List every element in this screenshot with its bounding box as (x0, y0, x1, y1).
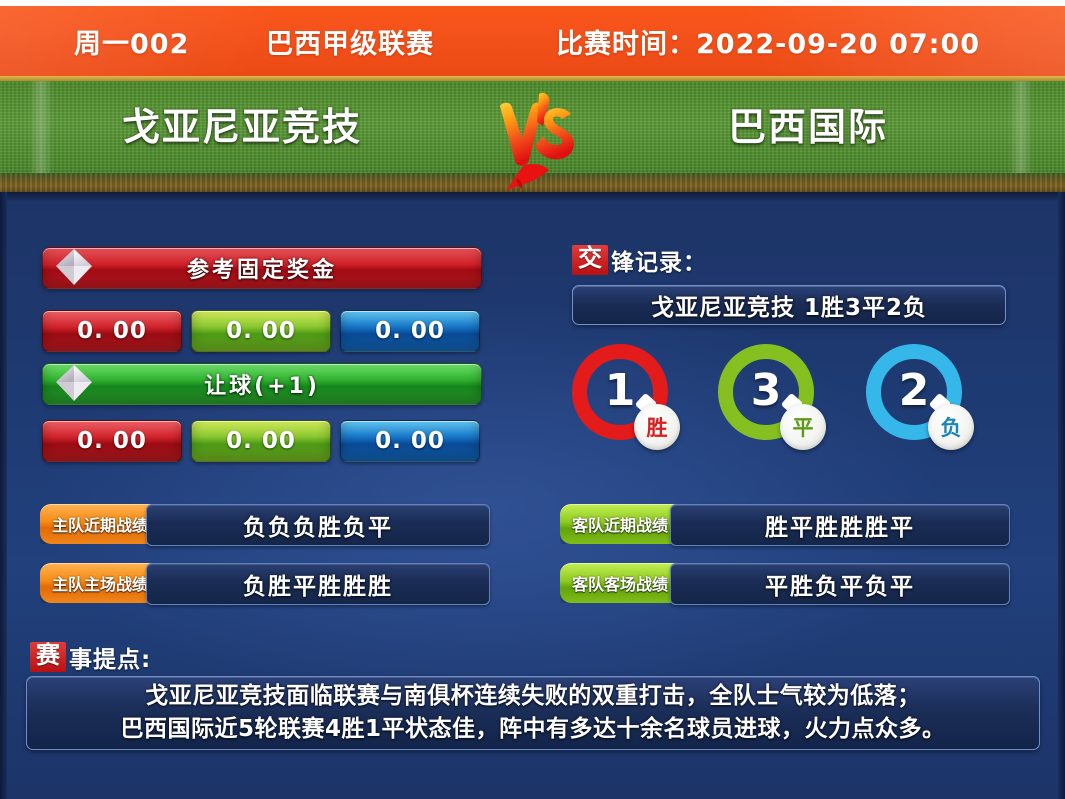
home-home-record-value: 负胜平胜胜胜 (243, 567, 393, 601)
handicap-odd-draw[interactable]: 0. 00 (191, 420, 331, 462)
tips-section-title: 赛 事提点: (30, 640, 151, 674)
fixed-prize-odds-row: 0. 00 0. 00 0. 00 (42, 310, 480, 352)
fixed-prize-odd-win[interactable]: 0. 00 (42, 310, 182, 352)
handicap-title: 让球(+1) (204, 368, 320, 400)
away-recent-record-bar: 胜平胜胜胜平 (670, 504, 1010, 546)
h2h-ring-lose-label: 负 (928, 404, 974, 450)
vs-flame-icon (487, 88, 583, 192)
h2h-summary-text: 戈亚尼亚竞技 1胜3平2负 (651, 288, 927, 322)
handicap-odd-lose[interactable]: 0. 00 (340, 420, 480, 462)
fixed-prize-odd-draw[interactable]: 0. 00 (191, 310, 331, 352)
handicap-odd-draw-value: 0. 00 (226, 428, 296, 454)
home-home-record-label: 主队主场战绩 (52, 571, 148, 595)
fixed-prize-header: 参考固定奖金 (42, 247, 482, 289)
match-time: 比赛时间：2022-09-20 07:00 (556, 22, 980, 61)
match-round: 周一002 (74, 22, 189, 61)
h2h-rings: 1 胜 3 平 2 负 (566, 344, 1010, 474)
fixed-prize-odd-draw-value: 0. 00 (226, 318, 296, 344)
content-top-shadow (0, 192, 1065, 202)
content-edge-right (1058, 192, 1065, 799)
tips-title-badge: 赛 (30, 642, 66, 671)
h2h-ring-win-label: 胜 (634, 404, 680, 450)
match-preview-page: 周一002 巴西甲级联赛 比赛时间：2022-09-20 07:00 戈亚尼亚竞… (0, 0, 1065, 799)
league-name: 巴西甲级联赛 (266, 22, 434, 61)
handicap-odd-lose-value: 0. 00 (375, 428, 445, 454)
h2h-ring-lose: 2 负 (866, 344, 990, 474)
content-edge-left (0, 192, 7, 799)
tips-line-2: 巴西国际近5轮联赛4胜1平状态佳，阵中有多达十余名球员进球，火力点众多。 (120, 713, 945, 746)
away-away-record-row: 客队客场战绩 平胜负平负平 (560, 563, 1008, 603)
fixed-prize-odd-win-value: 0. 00 (77, 318, 147, 344)
h2h-summary-bar: 戈亚尼亚竞技 1胜3平2负 (572, 285, 1006, 325)
away-recent-record-row: 客队近期战绩 胜平胜胜胜平 (560, 504, 1008, 544)
h2h-ring-draw-label: 平 (780, 404, 826, 450)
diamond-gem-icon-2 (52, 361, 96, 405)
away-recent-record-label: 客队近期战绩 (572, 512, 668, 536)
fixed-prize-odd-lose[interactable]: 0. 00 (340, 310, 480, 352)
h2h-title-text: 锋记录： (611, 243, 707, 277)
fixed-prize-title: 参考固定奖金 (187, 252, 337, 284)
tips-content-box: 戈亚尼亚竞技面临联赛与南俱杯连续失败的双重打击，全队士气较为低落； 巴西国际近5… (26, 676, 1040, 750)
home-recent-record-row: 主队近期战绩 负负负胜负平 (40, 504, 488, 544)
away-away-record-value: 平胜负平负平 (765, 567, 915, 601)
away-away-record-label: 客队客场战绩 (572, 571, 668, 595)
home-recent-record-bar: 负负负胜负平 (146, 504, 490, 546)
pitch-sideline-right (1010, 81, 1032, 173)
away-away-record-bar: 平胜负平负平 (670, 563, 1010, 605)
handicap-odd-win[interactable]: 0. 00 (42, 420, 182, 462)
handicap-header: 让球(+1) (42, 363, 482, 405)
fixed-prize-odd-lose-value: 0. 00 (375, 318, 445, 344)
home-recent-record-label: 主队近期战绩 (52, 512, 148, 536)
handicap-odd-win-value: 0. 00 (77, 428, 147, 454)
home-recent-record-value: 负负负胜负平 (243, 508, 393, 542)
h2h-ring-win: 1 胜 (572, 344, 696, 474)
away-recent-record-value: 胜平胜胜胜平 (765, 508, 915, 542)
home-team-name: 戈亚尼亚竞技 (122, 96, 362, 151)
handicap-odds-row: 0. 00 0. 00 0. 00 (42, 420, 480, 462)
diamond-gem-icon (52, 245, 96, 289)
away-team-name: 巴西国际 (728, 96, 888, 151)
h2h-section-title: 交 锋记录： (572, 243, 707, 277)
h2h-title-badge: 交 (572, 245, 608, 274)
header-bar: 周一002 巴西甲级联赛 比赛时间：2022-09-20 07:00 (0, 6, 1065, 76)
home-home-record-row: 主队主场战绩 负胜平胜胜胜 (40, 563, 488, 603)
home-home-record-bar: 负胜平胜胜胜 (146, 563, 490, 605)
tips-title-text: 事提点: (69, 640, 151, 674)
pitch-sideline-left (30, 81, 52, 173)
tips-line-1: 戈亚尼亚竞技面临联赛与南俱杯连续失败的双重打击，全队士气较为低落； (145, 680, 921, 713)
h2h-ring-draw: 3 平 (718, 344, 842, 474)
